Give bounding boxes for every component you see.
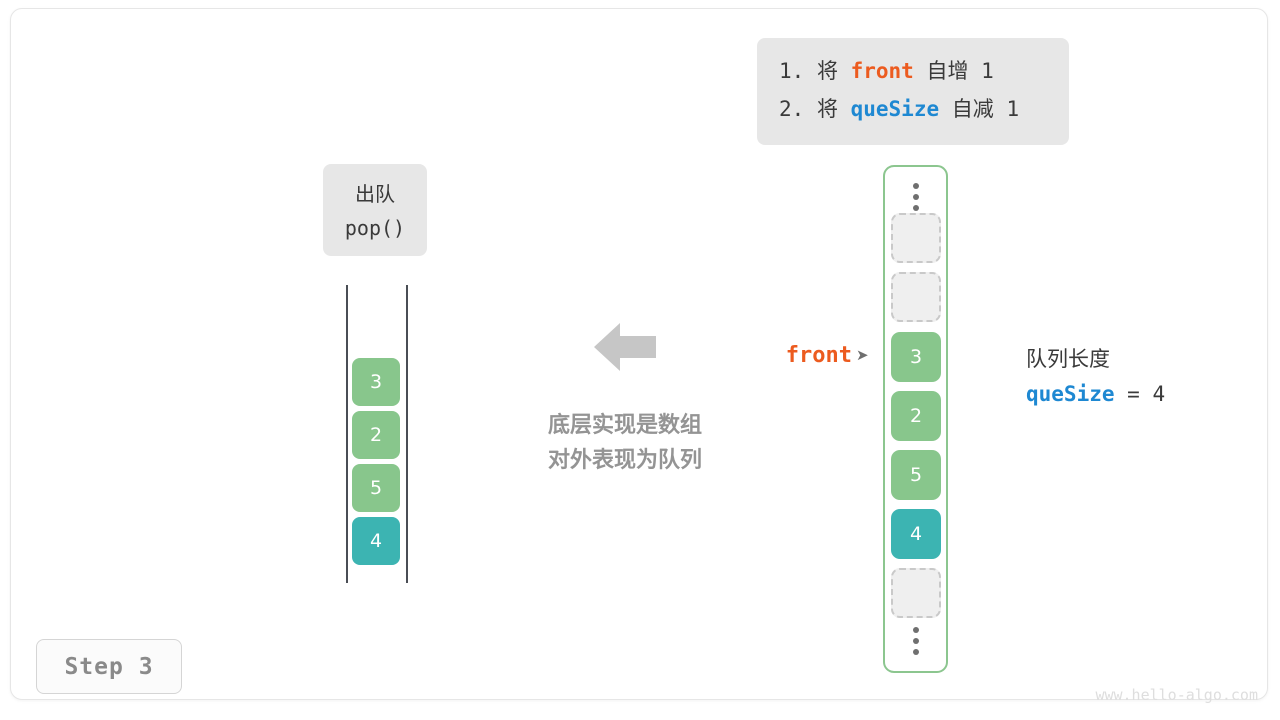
operation-call: pop() [323, 211, 427, 245]
center-caption: 底层实现是数组 对外表现为队列 [492, 408, 758, 478]
note-1-prefix: 将 [817, 59, 838, 83]
queue-rail-right [406, 285, 408, 583]
size-annotation-label: 队列长度 [1026, 342, 1165, 376]
note-1-suffix: 自增 [926, 59, 968, 83]
queue-cell: 2 [352, 411, 400, 459]
note-1-amount: 1 [981, 59, 994, 83]
size-annotation-variable: queSize [1026, 382, 1115, 406]
size-annotation-value: 4 [1152, 382, 1165, 406]
queue-cell: 4 [352, 517, 400, 565]
operation-note-box: 1. 将 front 自增 1 2. 将 queSize 自减 1 [757, 38, 1069, 145]
note-2-index: 2. [779, 97, 804, 121]
note-1-variable: front [851, 59, 914, 83]
array-cell-empty [891, 213, 941, 263]
watermark: www.hello-algo.com [1095, 686, 1258, 704]
ellipsis-bottom-icon [913, 627, 919, 655]
note-2-amount: 1 [1006, 97, 1019, 121]
queue-rail-left [346, 285, 348, 583]
note-line-1: 1. 将 front 自增 1 [779, 52, 1047, 90]
array-cell-empty [891, 568, 941, 618]
note-2-suffix: 自减 [952, 97, 994, 121]
center-caption-line-1: 底层实现是数组 [492, 408, 758, 443]
center-caption-line-2: 对外表现为队列 [492, 443, 758, 478]
size-annotation-equals: = [1127, 382, 1140, 406]
operation-label-box: 出队 pop() [323, 164, 427, 256]
size-annotation: 队列长度 queSize = 4 [1026, 342, 1165, 412]
size-annotation-expression: queSize = 4 [1026, 376, 1165, 412]
note-2-variable: queSize [851, 97, 940, 121]
array-cell: 5 [891, 450, 941, 500]
ellipsis-top-icon [913, 183, 919, 211]
front-pointer-label: front [760, 343, 852, 368]
note-1-index: 1. [779, 59, 804, 83]
array-cell-empty [891, 272, 941, 322]
operation-title: 出队 [323, 177, 427, 211]
queue-cell: 3 [352, 358, 400, 406]
queue-cell: 5 [352, 464, 400, 512]
left-arrow-icon [594, 322, 656, 372]
note-2-prefix: 将 [817, 97, 838, 121]
array-cell: 2 [891, 391, 941, 441]
front-pointer-marker-icon: ➤ [856, 347, 869, 363]
diagram-canvas: 1. 将 front 自增 1 2. 将 queSize 自减 1 出队 pop… [0, 0, 1280, 720]
array-cell: 4 [891, 509, 941, 559]
step-badge: Step 3 [36, 639, 182, 694]
note-line-2: 2. 将 queSize 自减 1 [779, 90, 1047, 128]
array-cell: 3 [891, 332, 941, 382]
